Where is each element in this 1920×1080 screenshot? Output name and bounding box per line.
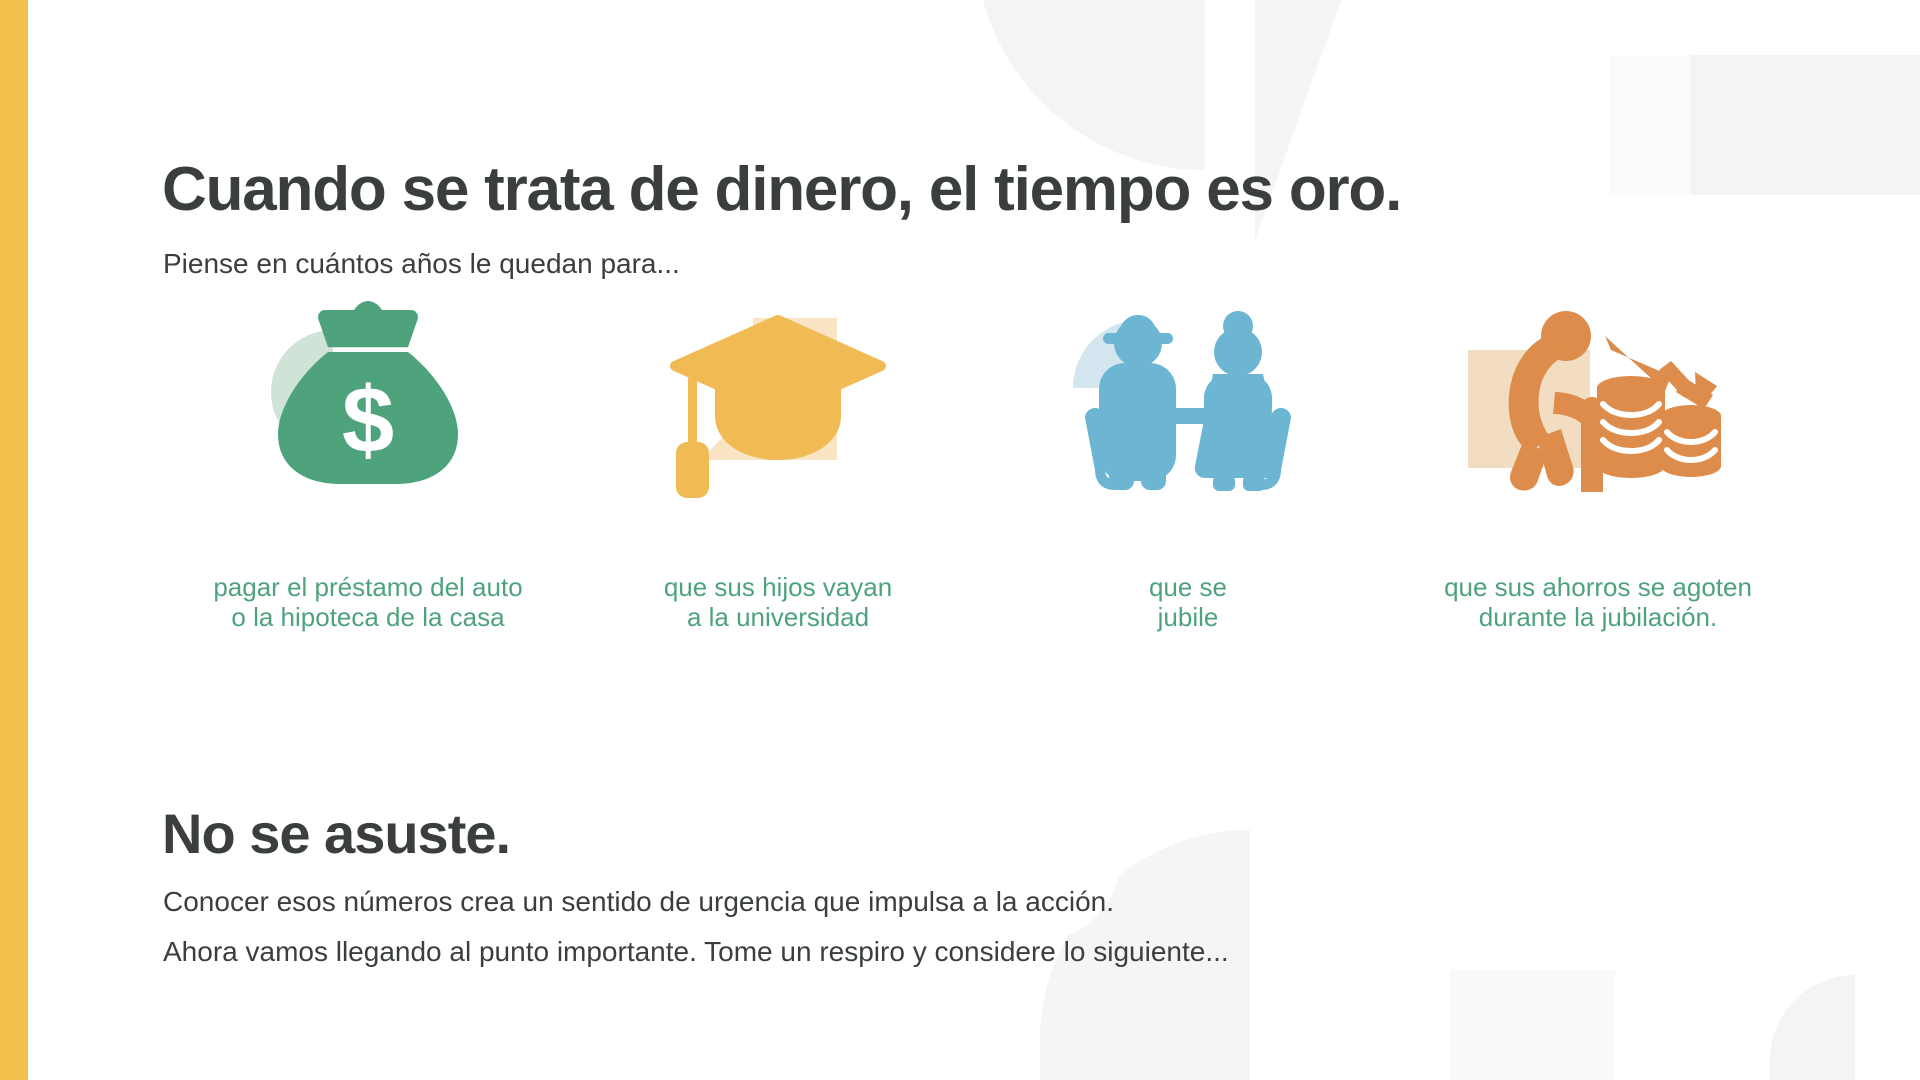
icon-cell-university: que sus hijos vayan a la universidad xyxy=(573,300,983,633)
svg-text:$: $ xyxy=(342,367,394,472)
page-subtitle: Piense en cuántos años le quedan para... xyxy=(163,248,680,280)
slide-canvas: Cuando se trata de dinero, el tiempo es … xyxy=(0,0,1920,1080)
icon-caption-row: $ pagar el préstamo del auto o la hipote… xyxy=(163,300,1803,633)
section-heading: No se asuste. xyxy=(162,801,510,866)
body-text-line-1: Conocer esos números crea un sentido de … xyxy=(163,886,1114,918)
icon-caption-label: pagar el préstamo del auto o la hipoteca… xyxy=(213,572,522,633)
icon-caption-label: que se jubile xyxy=(1149,572,1227,633)
left-accent-bar xyxy=(0,0,28,1080)
retiree-savings-decline-icon xyxy=(1463,300,1733,510)
body-text-line-2: Ahora vamos llegando al punto importante… xyxy=(163,936,1229,968)
icon-caption-label: que sus hijos vayan a la universidad xyxy=(664,572,892,633)
icon-cell-retire: que se jubile xyxy=(983,300,1393,633)
money-bag-icon: $ xyxy=(233,300,503,510)
icon-caption-label: que sus ahorros se agoten durante la jub… xyxy=(1444,572,1752,633)
slide-content: Cuando se trata de dinero, el tiempo es … xyxy=(0,0,1920,1080)
elderly-couple-icon xyxy=(1053,300,1323,510)
page-title: Cuando se trata de dinero, el tiempo es … xyxy=(162,154,1401,225)
icon-cell-savings: que sus ahorros se agoten durante la jub… xyxy=(1393,300,1803,633)
graduation-cap-icon xyxy=(643,300,913,510)
icon-cell-loan: $ pagar el préstamo del auto o la hipote… xyxy=(163,300,573,633)
